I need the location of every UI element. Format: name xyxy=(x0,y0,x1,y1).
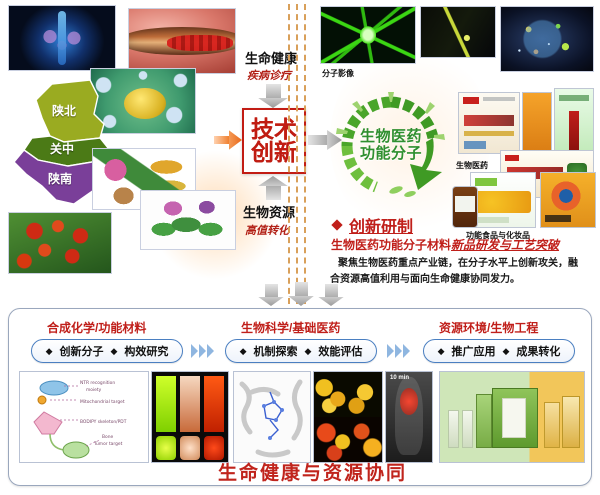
ring-label-line2: 功能分子 xyxy=(360,146,422,163)
figure-probe-schematic: NTR recognition moiety Mitochondrial tar… xyxy=(19,371,149,463)
highlight-body-line2: 合资源高值利用与面向生命健康协同发力。 xyxy=(330,270,520,285)
column-item-2-1: 成果转化 xyxy=(516,343,560,359)
highlight-body-line1: 聚焦生物医药重点产业链，在分子水平上创新攻关，融 xyxy=(338,254,578,269)
column-item-1-0: 机制探索 xyxy=(254,343,298,359)
svg-text:Mitochondrial target: Mitochondrial target xyxy=(80,399,125,405)
svg-text:Tumor target: Tumor target xyxy=(93,441,123,447)
svg-text:moiety: moiety xyxy=(86,387,102,393)
highlight-subtitle-plain: 生物医药功能分子材料 xyxy=(331,238,451,252)
photo-blood-vessel xyxy=(128,8,236,74)
diamond-glyph: ◆ xyxy=(240,346,247,357)
flow-bottom-sublabel: 高值转化 xyxy=(245,222,289,238)
photo-functional-food-box xyxy=(470,172,536,228)
map-region-label-1: 关中 xyxy=(50,140,74,157)
column-pill-2[interactable]: ◆ 推广应用 ◆ 成果转化 xyxy=(423,339,575,363)
photo-cosmetic-box xyxy=(540,172,596,228)
column-item-0-1: 构效研究 xyxy=(124,343,168,359)
caption-molecular-imaging: 分子影像 xyxy=(322,68,354,79)
probe-schematic-svg: NTR recognition moiety Mitochondrial tar… xyxy=(20,372,149,463)
footer-title: 生命健康与资源协同 xyxy=(218,458,407,485)
divider-dashed-2 xyxy=(296,4,298,304)
highlight-title: 创新研制 xyxy=(349,213,413,237)
figure-protein-structure xyxy=(233,371,311,463)
divider-dashed-3 xyxy=(304,4,306,304)
chevron-separator-1 xyxy=(191,344,214,358)
tech-box-line1: 技术 xyxy=(251,118,297,141)
photo-medicine-box-2 xyxy=(522,92,552,158)
photo-neuron-fluorescence xyxy=(320,6,416,64)
highlight-subtitle-italic: 新品研发与工艺突破 xyxy=(451,238,559,252)
column-item-0-0: 创新分子 xyxy=(60,343,104,359)
arrow-down-panel-3 xyxy=(318,284,344,306)
column-item-2-0: 推广应用 xyxy=(452,343,496,359)
flow-top-sublabel: 疾病诊疗 xyxy=(247,67,291,83)
chevron-separator-2 xyxy=(387,344,410,358)
diamond-glyph: ◆ xyxy=(438,346,445,357)
photo-medicine-box-1 xyxy=(458,92,520,154)
svg-text:BODIPY skeleton/PDT: BODIPY skeleton/PDT xyxy=(80,419,127,425)
arrow-down-panel-1 xyxy=(258,284,284,306)
photo-human-anatomy xyxy=(8,5,116,71)
ring-label-group: 生物医药 功能分子 xyxy=(330,90,452,202)
caption-biomedicine: 生物医药 xyxy=(456,160,488,171)
divider-dashed-1 xyxy=(288,4,290,304)
map-region-label-0: 陕北 xyxy=(52,102,76,119)
diamond-glyph: ◆ xyxy=(305,346,312,357)
column-title-0: 合成化学/功能材料 xyxy=(47,319,146,336)
diamond-glyph: ◆ xyxy=(111,346,118,357)
bullet-diamond-icon xyxy=(331,219,342,230)
arrow-down-panel-2 xyxy=(288,282,314,306)
svg-text:NTR recognition: NTR recognition xyxy=(80,380,115,386)
arrow-up-to-tech xyxy=(258,176,288,200)
photo-berry-shrub xyxy=(8,212,112,274)
diamond-glyph: ◆ xyxy=(503,346,510,357)
map-region-label-2: 陕南 xyxy=(48,170,72,187)
column-title-2: 资源环境/生物工程 xyxy=(439,319,538,336)
infographic-root: 陕北 关中 陕南 生命健康 疾病诊疗 技术 创新 生物资源 高值转化 分子影像 xyxy=(0,0,600,495)
column-pill-1[interactable]: ◆ 机制探索 ◆ 效能评估 xyxy=(225,339,377,363)
arrow-down-to-tech xyxy=(258,84,288,108)
diamond-glyph: ◆ xyxy=(46,346,53,357)
tech-box-line2: 创新 xyxy=(251,141,297,164)
photo-supplement-bottle xyxy=(452,186,478,228)
biomedicine-ring: 生物医药 功能分子 xyxy=(330,90,452,202)
photo-herb-plant xyxy=(140,190,236,250)
column-title-1: 生物科学/基础医药 xyxy=(241,319,340,336)
column-item-1-1: 效能评估 xyxy=(318,343,362,359)
figure-fluorescence-cuvettes xyxy=(151,371,229,463)
photo-dark-fluorescence xyxy=(420,6,496,58)
photo-cell-microscopy xyxy=(500,6,594,72)
figure-cell-imaging xyxy=(313,371,383,463)
ring-label-line1: 生物医药 xyxy=(360,129,422,146)
highlight-subtitle: 生物医药功能分子材料新品研发与工艺突破 xyxy=(331,236,559,253)
imaging-timestamp: 10 min xyxy=(390,375,409,381)
arrow-orange-into-tech xyxy=(214,130,242,150)
svg-text:Bone: Bone xyxy=(102,434,113,440)
figure-product-packaging xyxy=(439,371,585,463)
figure-mouse-imaging: 10 min xyxy=(385,371,433,463)
column-pill-0[interactable]: ◆ 创新分子 ◆ 构效研究 xyxy=(31,339,183,363)
protein-svg xyxy=(234,372,311,463)
